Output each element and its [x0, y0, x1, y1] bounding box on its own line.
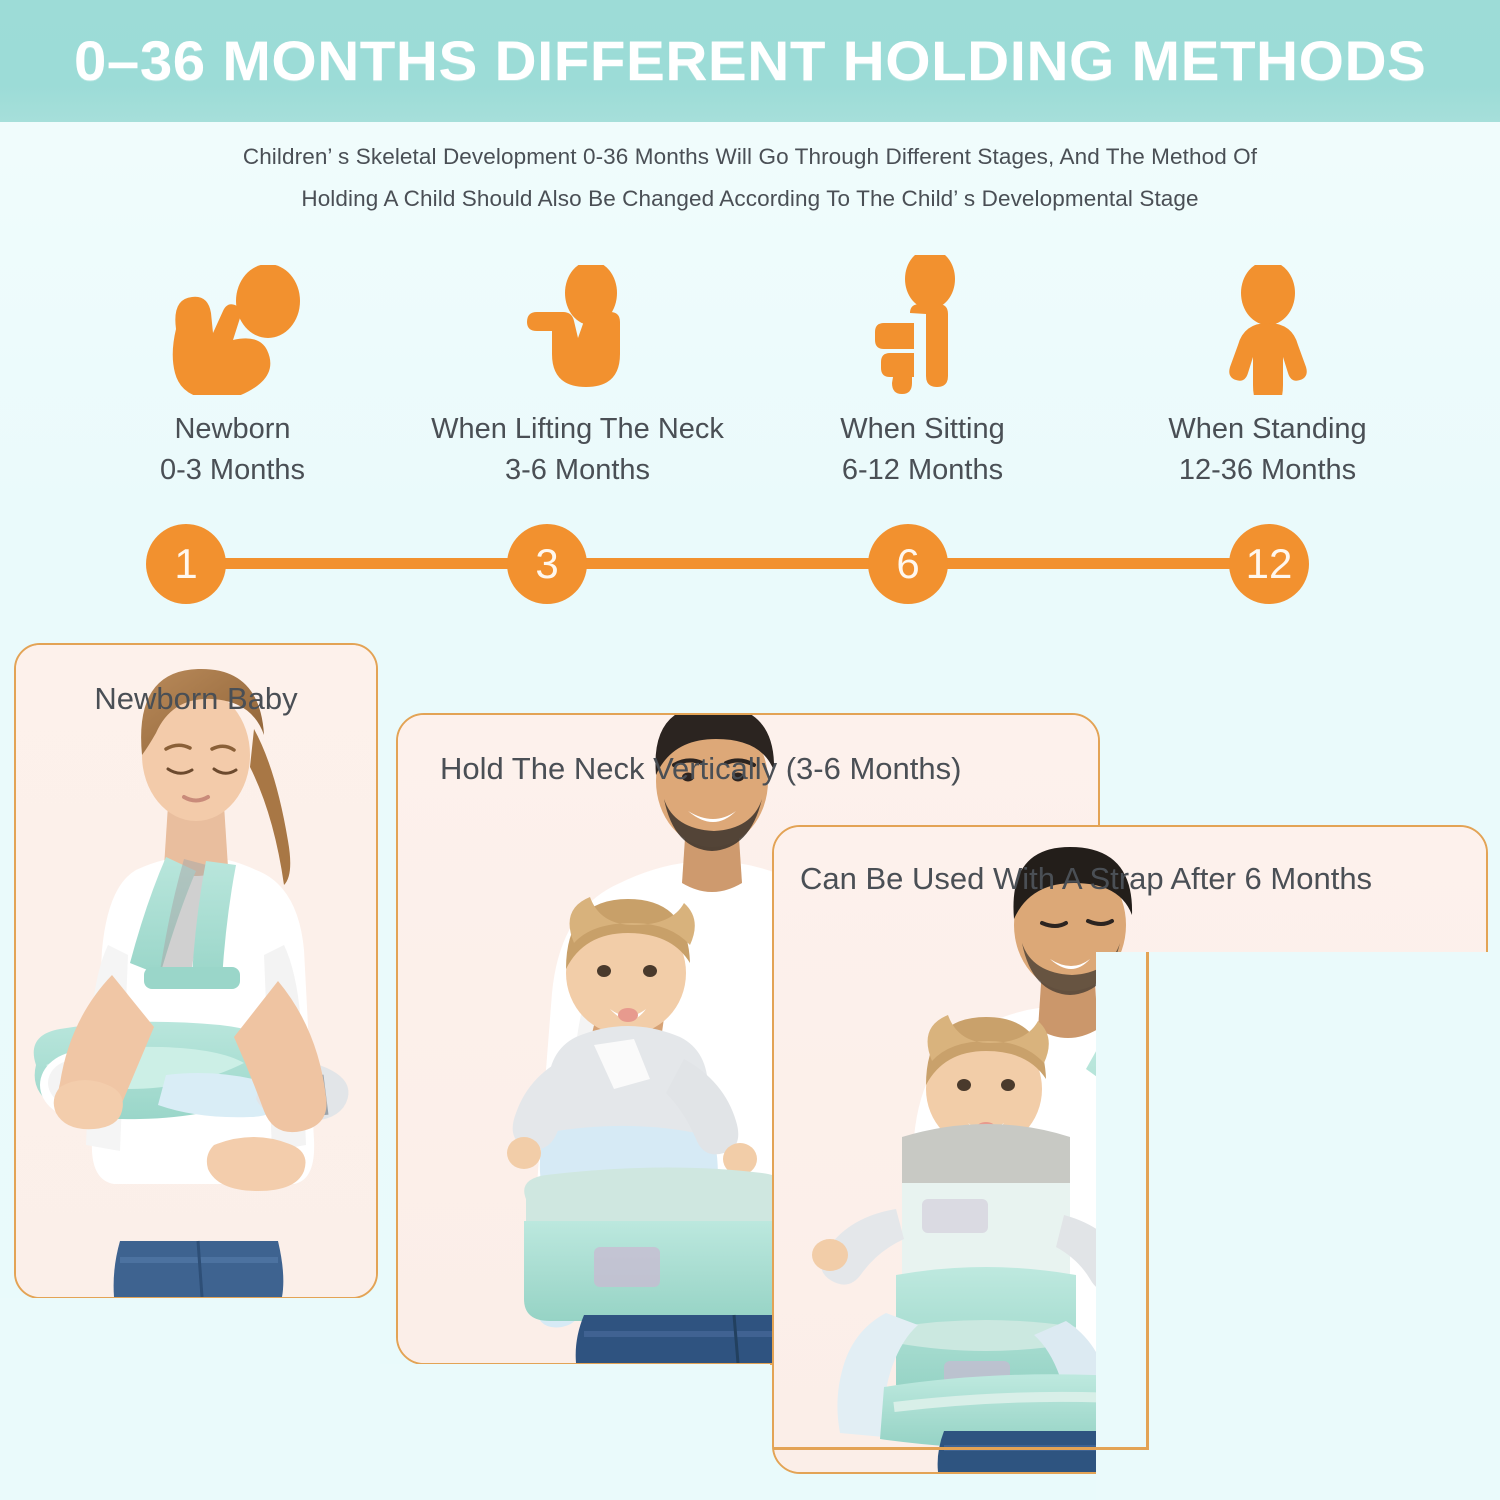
stage-label: When Sitting 6-12 Months [840, 409, 1004, 491]
subtitle: Children’ s Skeletal Development 0-36 Mo… [0, 136, 1500, 220]
page-title: 0–36 MONTHS DIFFERENT HOLDING METHODS [74, 33, 1426, 89]
bg-mask-card2-bottom [380, 1364, 770, 1500]
baby-head-up-icon [503, 255, 653, 395]
stage-name: Newborn [160, 409, 305, 450]
card-title: Newborn Baby [16, 683, 376, 714]
stage-name: When Standing [1168, 409, 1366, 450]
card3-body-right-border [1146, 952, 1149, 1450]
card3-body-bottom-border [774, 1447, 1148, 1450]
stage-age: 3-6 Months [431, 450, 724, 491]
bg-mask-right [1150, 952, 1500, 1500]
header-band: 0–36 MONTHS DIFFERENT HOLDING METHODS [0, 0, 1500, 122]
timeline-rail [186, 558, 1269, 569]
card-title: Can Be Used With A Strap After 6 Months [774, 863, 1488, 894]
subtitle-line-1: Children’ s Skeletal Development 0-36 Mo… [0, 136, 1500, 178]
infographic-page: 0–36 MONTHS DIFFERENT HOLDING METHODS Ch… [0, 0, 1500, 1500]
stage-name: When Sitting [840, 409, 1004, 450]
timeline: 1 3 6 12 [146, 524, 1309, 604]
stage-lifting-neck: When Lifting The Neck 3-6 Months [405, 255, 750, 500]
stage-age: 6-12 Months [840, 450, 1004, 491]
baby-lying-icon [158, 255, 308, 395]
stage-label: Newborn 0-3 Months [160, 409, 305, 491]
stage-sitting: When Sitting 6-12 Months [750, 255, 1095, 500]
stage-newborn: Newborn 0-3 Months [60, 255, 405, 500]
photo-card-newborn[interactable]: Newborn Baby [14, 643, 378, 1299]
baby-sitting-icon [848, 255, 998, 395]
stage-age: 12-36 Months [1168, 450, 1366, 491]
stage-name: When Lifting The Neck [431, 409, 724, 450]
mother-holding-newborn-photo [16, 645, 376, 1297]
baby-standing-icon [1193, 255, 1343, 395]
stage-age: 0-3 Months [160, 450, 305, 491]
timeline-node-6[interactable]: 6 [868, 524, 948, 604]
timeline-node-12[interactable]: 12 [1229, 524, 1309, 604]
stages-row: Newborn 0-3 Months When Lifting The Neck… [60, 255, 1440, 500]
card-title: Hold The Neck Vertically (3-6 Months) [398, 753, 1100, 784]
stage-label: When Lifting The Neck 3-6 Months [431, 409, 724, 491]
stage-label: When Standing 12-36 Months [1168, 409, 1366, 491]
subtitle-line-2: Holding A Child Should Also Be Changed A… [0, 178, 1500, 220]
timeline-node-3[interactable]: 3 [507, 524, 587, 604]
stage-standing: When Standing 12-36 Months [1095, 255, 1440, 500]
timeline-node-1[interactable]: 1 [146, 524, 226, 604]
bg-mask-card1-bottom [0, 1298, 380, 1500]
